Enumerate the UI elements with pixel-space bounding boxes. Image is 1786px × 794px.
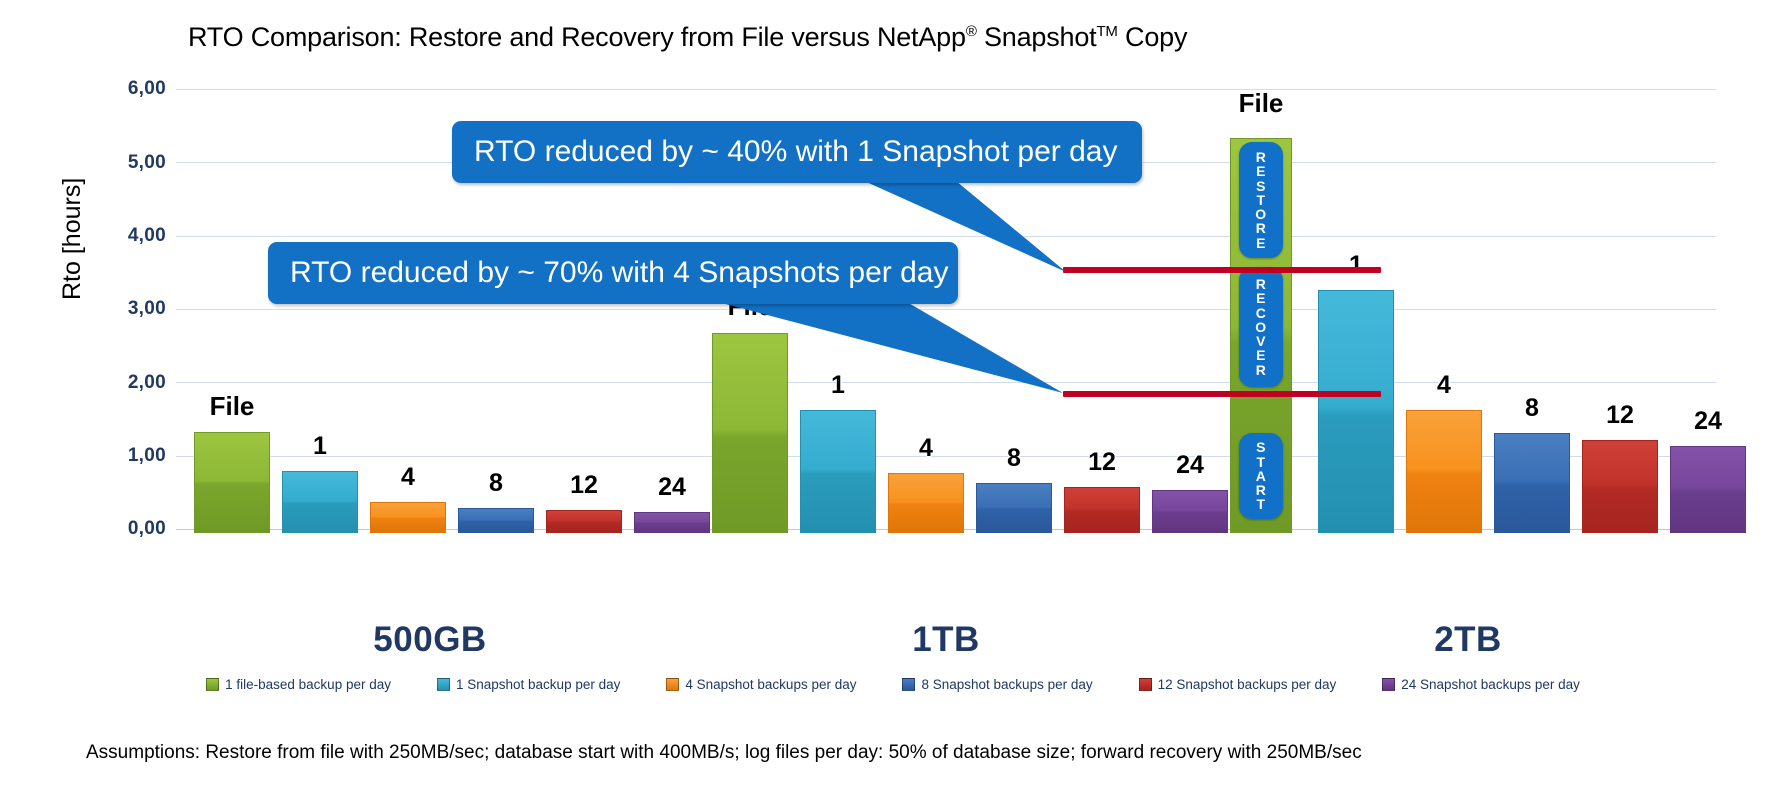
phase-recover-letter-1: E — [1256, 291, 1266, 305]
phase-restore-letter-3: T — [1256, 193, 1265, 207]
legend-label-24-snapshots: 24 Snapshot backups per day — [1401, 677, 1580, 692]
legend-swatch-8-snapshots — [902, 678, 915, 691]
bar-2tb-1[interactable] — [1318, 290, 1394, 533]
bar-2tb-12[interactable] — [1582, 440, 1658, 533]
legend-item-8-snapshots[interactable]: 8 Snapshot backups per day — [902, 677, 1092, 692]
bar-label-500gb-24: 24 — [634, 473, 710, 502]
y-tick-label-1: 1,00 — [96, 445, 166, 467]
assumptions-footnote: Assumptions: Restore from file with 250M… — [86, 742, 1362, 764]
bar-2tb-4[interactable] — [1406, 410, 1482, 533]
bar-label-500gb-file: File — [194, 391, 270, 422]
legend-item-24-snapshots[interactable]: 24 Snapshot backups per day — [1382, 677, 1580, 692]
phase-recover-letter-2: C — [1256, 306, 1267, 320]
legend-swatch-4-snapshots — [666, 678, 679, 691]
bar-2tb-24[interactable] — [1670, 446, 1746, 533]
bar-group-2tb: R E S T O R E R E C O V E R S T A R T — [1222, 85, 1692, 533]
bar-label-500gb-1: 1 — [282, 432, 358, 461]
phase-start-letter-1: T — [1256, 455, 1265, 469]
legend-swatch-file — [206, 678, 219, 691]
legend-item-file[interactable]: 1 file-based backup per day — [206, 677, 391, 692]
chart-title-pre: RTO Comparison: Restore and Recovery fro… — [188, 22, 966, 52]
bar-label-500gb-4: 4 — [370, 463, 446, 492]
y-tick-label-4: 4,00 — [96, 225, 166, 247]
callout-40-percent-text: RTO reduced by ~ 40% with 1 Snapshot per… — [474, 135, 1117, 169]
bar-label-1tb-4: 4 — [888, 434, 964, 463]
bar-2tb-8[interactable] — [1494, 433, 1570, 533]
y-tick-label-2: 2,00 — [96, 372, 166, 394]
bar-1tb-12[interactable] — [1064, 487, 1140, 533]
phase-recover-letter-4: V — [1256, 334, 1266, 348]
legend-label-8-snapshots: 8 Snapshot backups per day — [921, 677, 1092, 692]
phase-recover-letter-5: E — [1256, 348, 1266, 362]
bar-label-2tb-12: 12 — [1582, 401, 1658, 430]
category-label-500gb: 500GB — [300, 620, 560, 660]
bar-500gb-4[interactable] — [370, 502, 446, 533]
legend-label-4-snapshots: 4 Snapshot backups per day — [685, 677, 856, 692]
bar-500gb-1[interactable] — [282, 471, 358, 533]
bar-label-1tb-1: 1 — [800, 371, 876, 400]
bar-label-1tb-12: 12 — [1064, 448, 1140, 477]
legend-label-1-snapshot: 1 Snapshot backup per day — [456, 677, 620, 692]
bar-label-2tb-24: 24 — [1670, 407, 1746, 436]
phase-restore-letter-0: R — [1256, 150, 1267, 164]
phase-restore-letter-2: S — [1256, 179, 1266, 193]
bar-label-1tb-8: 8 — [976, 444, 1052, 473]
bar-1tb-8[interactable] — [976, 483, 1052, 533]
legend: 1 file-based backup per day 1 Snapshot b… — [0, 677, 1786, 692]
phase-restore-letter-4: O — [1255, 207, 1266, 221]
bar-500gb-12[interactable] — [546, 510, 622, 533]
phase-start-letter-2: A — [1256, 469, 1267, 483]
bar-label-2tb-file: File — [1222, 88, 1300, 119]
bar-label-2tb-8: 8 — [1494, 394, 1570, 423]
bar-1tb-1[interactable] — [800, 410, 876, 533]
chart-title-mid: Snapshot — [977, 22, 1097, 52]
bar-label-2tb-4: 4 — [1406, 371, 1482, 400]
chart-title-post: Copy — [1118, 22, 1188, 52]
callout-70-percent-text: RTO reduced by ~ 70% with 4 Snapshots pe… — [290, 256, 948, 290]
y-tick-label-6: 6,00 — [96, 78, 166, 100]
reference-line-1-snapshot — [1063, 267, 1381, 273]
bar-500gb-file[interactable] — [194, 432, 270, 533]
category-label-2tb: 2TB — [1338, 620, 1598, 660]
bar-1tb-file[interactable] — [712, 333, 788, 533]
legend-item-4-snapshots[interactable]: 4 Snapshot backups per day — [666, 677, 856, 692]
phase-recover-letter-6: R — [1256, 363, 1267, 377]
bar-label-2tb-1: 1 — [1318, 251, 1394, 280]
bar-500gb-8[interactable] — [458, 508, 534, 533]
legend-label-file: 1 file-based backup per day — [225, 677, 391, 692]
chart-title: RTO Comparison: Restore and Recovery fro… — [188, 22, 1187, 53]
category-label-1tb: 1TB — [816, 620, 1076, 660]
trademark-mark-icon: TM — [1096, 23, 1117, 40]
legend-swatch-24-snapshots — [1382, 678, 1395, 691]
phase-start-letter-4: T — [1256, 497, 1265, 511]
legend-item-12-snapshots[interactable]: 12 Snapshot backups per day — [1139, 677, 1337, 692]
y-tick-label-0: 0,00 — [96, 518, 166, 540]
bar-label-1tb-24: 24 — [1152, 451, 1228, 480]
phase-restore-letter-5: R — [1256, 221, 1267, 235]
phase-recover-letter-0: R — [1256, 277, 1267, 291]
phase-restore-letter-6: E — [1256, 236, 1266, 250]
callout-70-percent[interactable]: RTO reduced by ~ 70% with 4 Snapshots pe… — [268, 242, 958, 304]
registered-mark-icon: ® — [966, 23, 977, 40]
phase-restore: R E S T O R E — [1239, 142, 1283, 258]
phase-restore-letter-1: E — [1256, 164, 1266, 178]
y-tick-label-5: 5,00 — [96, 152, 166, 174]
reference-line-4-snapshots — [1063, 391, 1381, 397]
y-tick-label-3: 3,00 — [96, 298, 166, 320]
legend-label-12-snapshots: 12 Snapshot backups per day — [1158, 677, 1337, 692]
bar-label-500gb-12: 12 — [546, 471, 622, 500]
bar-1tb-4[interactable] — [888, 473, 964, 533]
phase-start-letter-3: R — [1256, 483, 1267, 497]
phase-start-letter-0: S — [1256, 440, 1266, 454]
phase-start: S T A R T — [1239, 433, 1283, 519]
phase-recover-letter-3: O — [1255, 320, 1266, 334]
y-axis-title: Rto [hours] — [58, 178, 87, 300]
legend-swatch-1-snapshot — [437, 678, 450, 691]
legend-item-1-snapshot[interactable]: 1 Snapshot backup per day — [437, 677, 620, 692]
bar-label-500gb-8: 8 — [458, 469, 534, 498]
bar-500gb-24[interactable] — [634, 512, 710, 533]
legend-swatch-12-snapshots — [1139, 678, 1152, 691]
phase-recover: R E C O V E R — [1239, 267, 1283, 387]
callout-40-percent[interactable]: RTO reduced by ~ 40% with 1 Snapshot per… — [452, 121, 1142, 183]
bar-1tb-24[interactable] — [1152, 490, 1228, 533]
